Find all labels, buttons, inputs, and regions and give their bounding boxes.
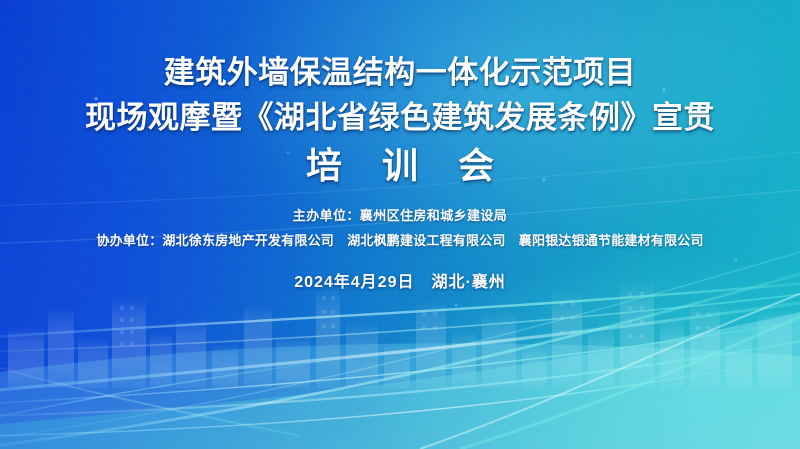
host-organizer-line: 主办单位：襄州区住房和城乡建设局 — [293, 208, 507, 224]
event-poster-banner: 建筑外墙保温结构一体化示范项目 现场观摩暨《湖北省绿色建筑发展条例》宣贯 培 训… — [0, 0, 800, 449]
poster-content: 建筑外墙保温结构一体化示范项目 现场观摩暨《湖北省绿色建筑发展条例》宣贯 培 训… — [0, 0, 800, 449]
poster-title-line-3: 培 训 会 — [291, 146, 509, 186]
poster-title-line-2: 现场观摩暨《湖北省绿色建筑发展条例》宣贯 — [85, 101, 715, 135]
co-organizer-line: 协办单位：湖北徐东房地产开发有限公司 湖北枫鹏建设工程有限公司 襄阳银达银通节能… — [96, 233, 703, 249]
poster-title-line-1: 建筑外墙保温结构一体化示范项目 — [164, 56, 637, 90]
event-date-location: 2024年4月29日 湖北·襄州 — [294, 273, 506, 293]
